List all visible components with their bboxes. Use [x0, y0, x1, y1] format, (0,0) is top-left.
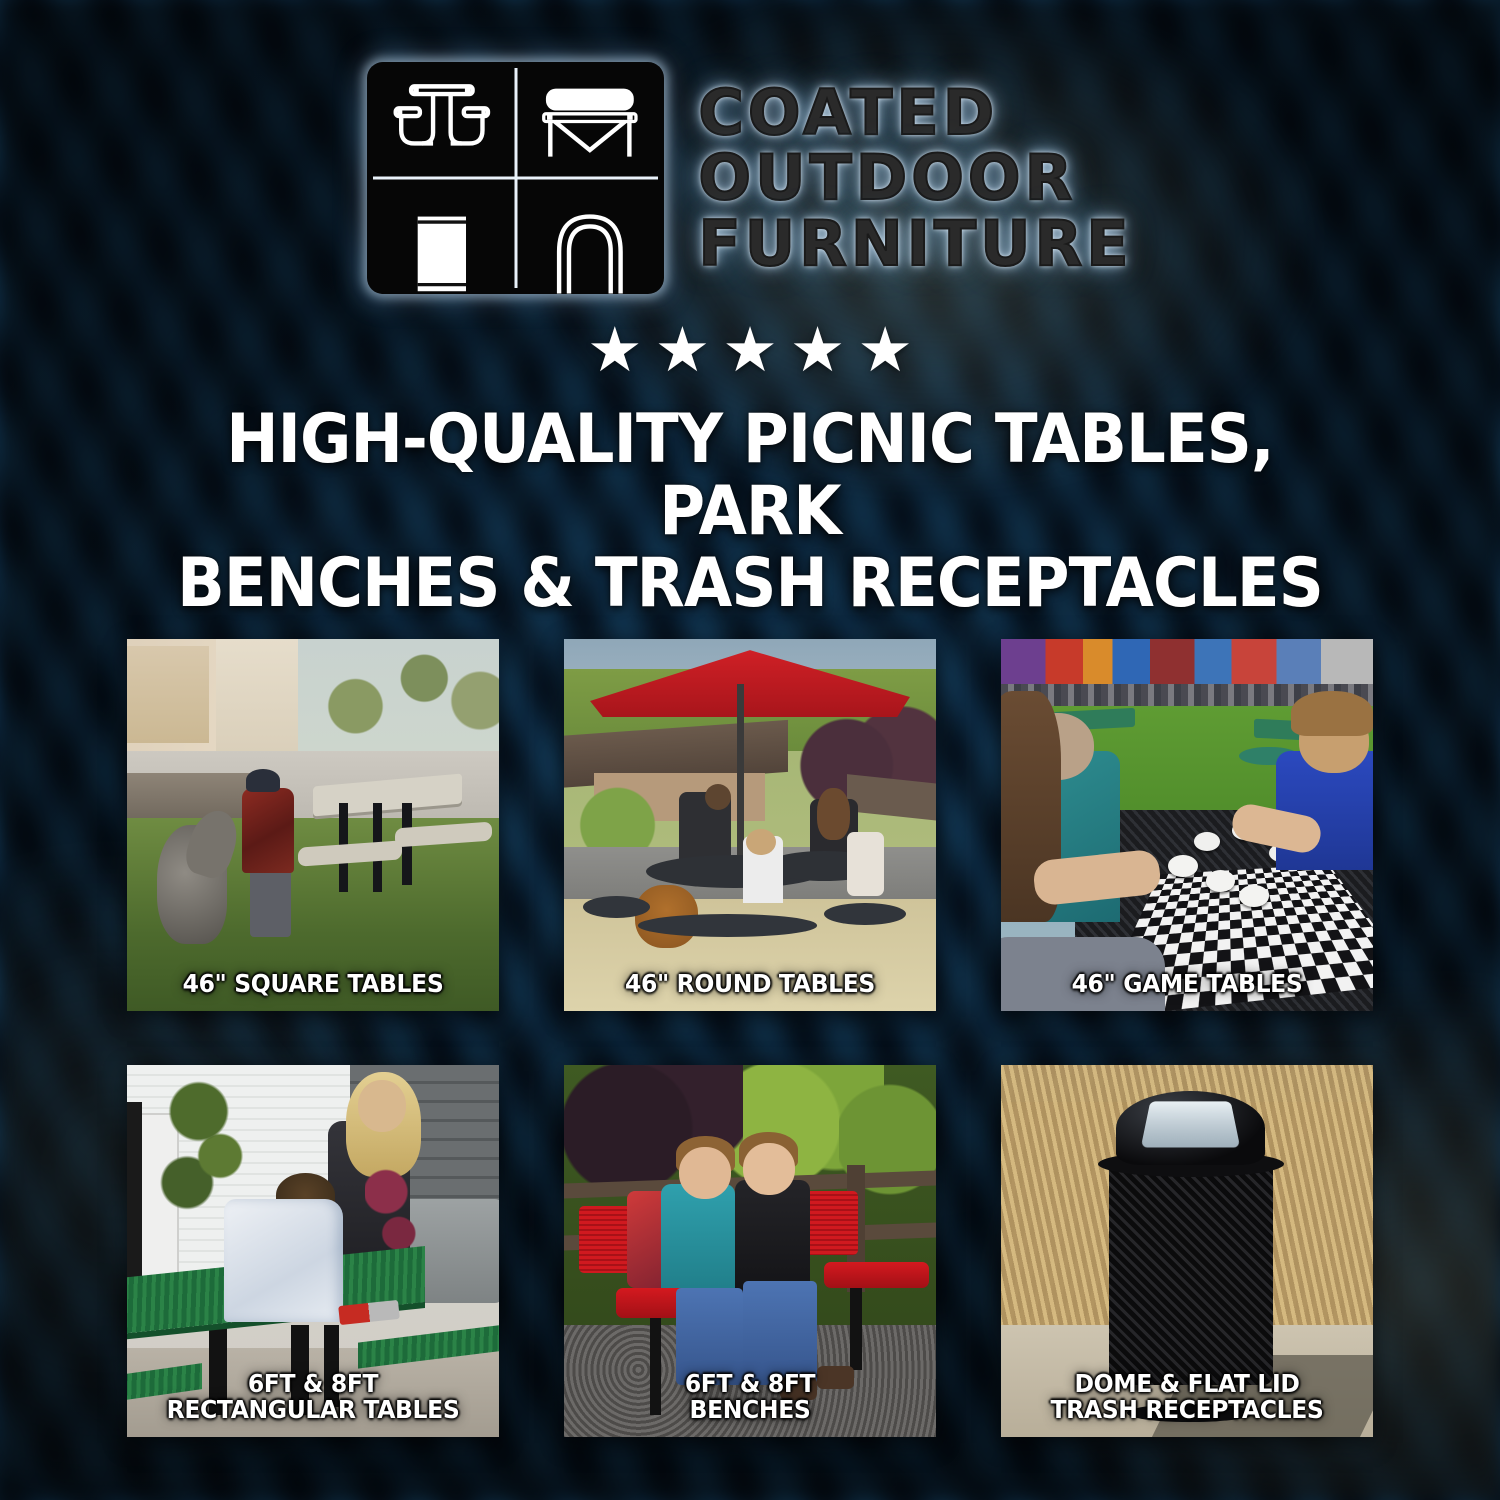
star-icon: ★: [790, 320, 846, 382]
product-card-game-tables[interactable]: 46" GAME TABLES: [1001, 639, 1373, 1011]
product-caption: 46" GAME TABLES: [1012, 971, 1362, 997]
caption-line-1: DOME & FLAT LID: [1012, 1371, 1362, 1397]
caption-line-1: 6FT & 8FT: [575, 1371, 925, 1397]
picnic-table-icon: [367, 62, 516, 190]
brand-wordmark: COATED OUTDOOR FURNITURE: [698, 81, 1132, 275]
product-card-benches[interactable]: 6FT & 8FT BENCHES: [564, 1065, 936, 1437]
caption-line-1: 6FT & 8FT: [138, 1371, 488, 1397]
caption-line-2: TRASH RECEPTACLES: [1012, 1397, 1362, 1423]
star-icon: ★: [655, 320, 711, 382]
headline: HIGH-QUALITY PICNIC TABLES, PARK BENCHES…: [157, 404, 1344, 620]
product-card-square-tables[interactable]: 46" SQUARE TABLES: [127, 639, 499, 1011]
product-photo-round-tables: [564, 639, 936, 1011]
brand-logo[interactable]: COATED OUTDOOR FURNITURE: [0, 0, 1500, 294]
star-icon: ★: [587, 320, 643, 382]
logo-divider-horizontal: [373, 177, 658, 180]
caption-line-1: 46" ROUND TABLES: [575, 971, 925, 997]
caption-line-2: BENCHES: [575, 1397, 925, 1423]
product-card-rectangular-tables[interactable]: 6FT & 8FT RECTANGULAR TABLES: [127, 1065, 499, 1437]
product-caption: DOME & FLAT LID TRASH RECEPTACLES: [1012, 1371, 1362, 1423]
brand-name-line-2: OUTDOOR: [698, 146, 1132, 209]
product-card-round-tables[interactable]: 46" ROUND TABLES: [564, 639, 936, 1011]
product-card-trash-receptacles[interactable]: DOME & FLAT LID TRASH RECEPTACLES: [1001, 1065, 1373, 1437]
product-photo-game-tables: [1001, 639, 1373, 1011]
brand-name-line-3: FURNITURE: [698, 212, 1132, 275]
caption-line-2: RECTANGULAR TABLES: [138, 1397, 488, 1423]
product-caption: 46" SQUARE TABLES: [138, 971, 488, 997]
poster-content: COATED OUTDOOR FURNITURE ★ ★ ★ ★ ★ HIGH-…: [0, 0, 1500, 620]
headline-line-2: BENCHES & TRASH RECEPTACLES: [157, 548, 1344, 620]
star-icon: ★: [722, 320, 778, 382]
product-grid: 46" SQUARE TABLES: [127, 639, 1373, 1437]
trash-receptacle-icon: [367, 190, 516, 318]
headline-line-1: HIGH-QUALITY PICNIC TABLES, PARK: [157, 404, 1344, 548]
product-caption: 6FT & 8FT RECTANGULAR TABLES: [138, 1371, 488, 1423]
product-caption: 6FT & 8FT BENCHES: [575, 1371, 925, 1423]
bike-rack-icon: [516, 190, 665, 318]
product-caption: 46" ROUND TABLES: [575, 971, 925, 997]
park-bench-icon: [516, 62, 665, 190]
star-rating: ★ ★ ★ ★ ★: [0, 320, 1500, 382]
coated-outdoor-furniture-logo[interactable]: [367, 62, 664, 294]
star-icon: ★: [857, 320, 913, 382]
product-photo-square-tables: [127, 639, 499, 1011]
promotional-poster: COATED OUTDOOR FURNITURE ★ ★ ★ ★ ★ HIGH-…: [0, 0, 1500, 1500]
brand-name-line-1: COATED: [698, 81, 1132, 144]
caption-line-1: 46" SQUARE TABLES: [138, 971, 488, 997]
caption-line-1: 46" GAME TABLES: [1012, 971, 1362, 997]
